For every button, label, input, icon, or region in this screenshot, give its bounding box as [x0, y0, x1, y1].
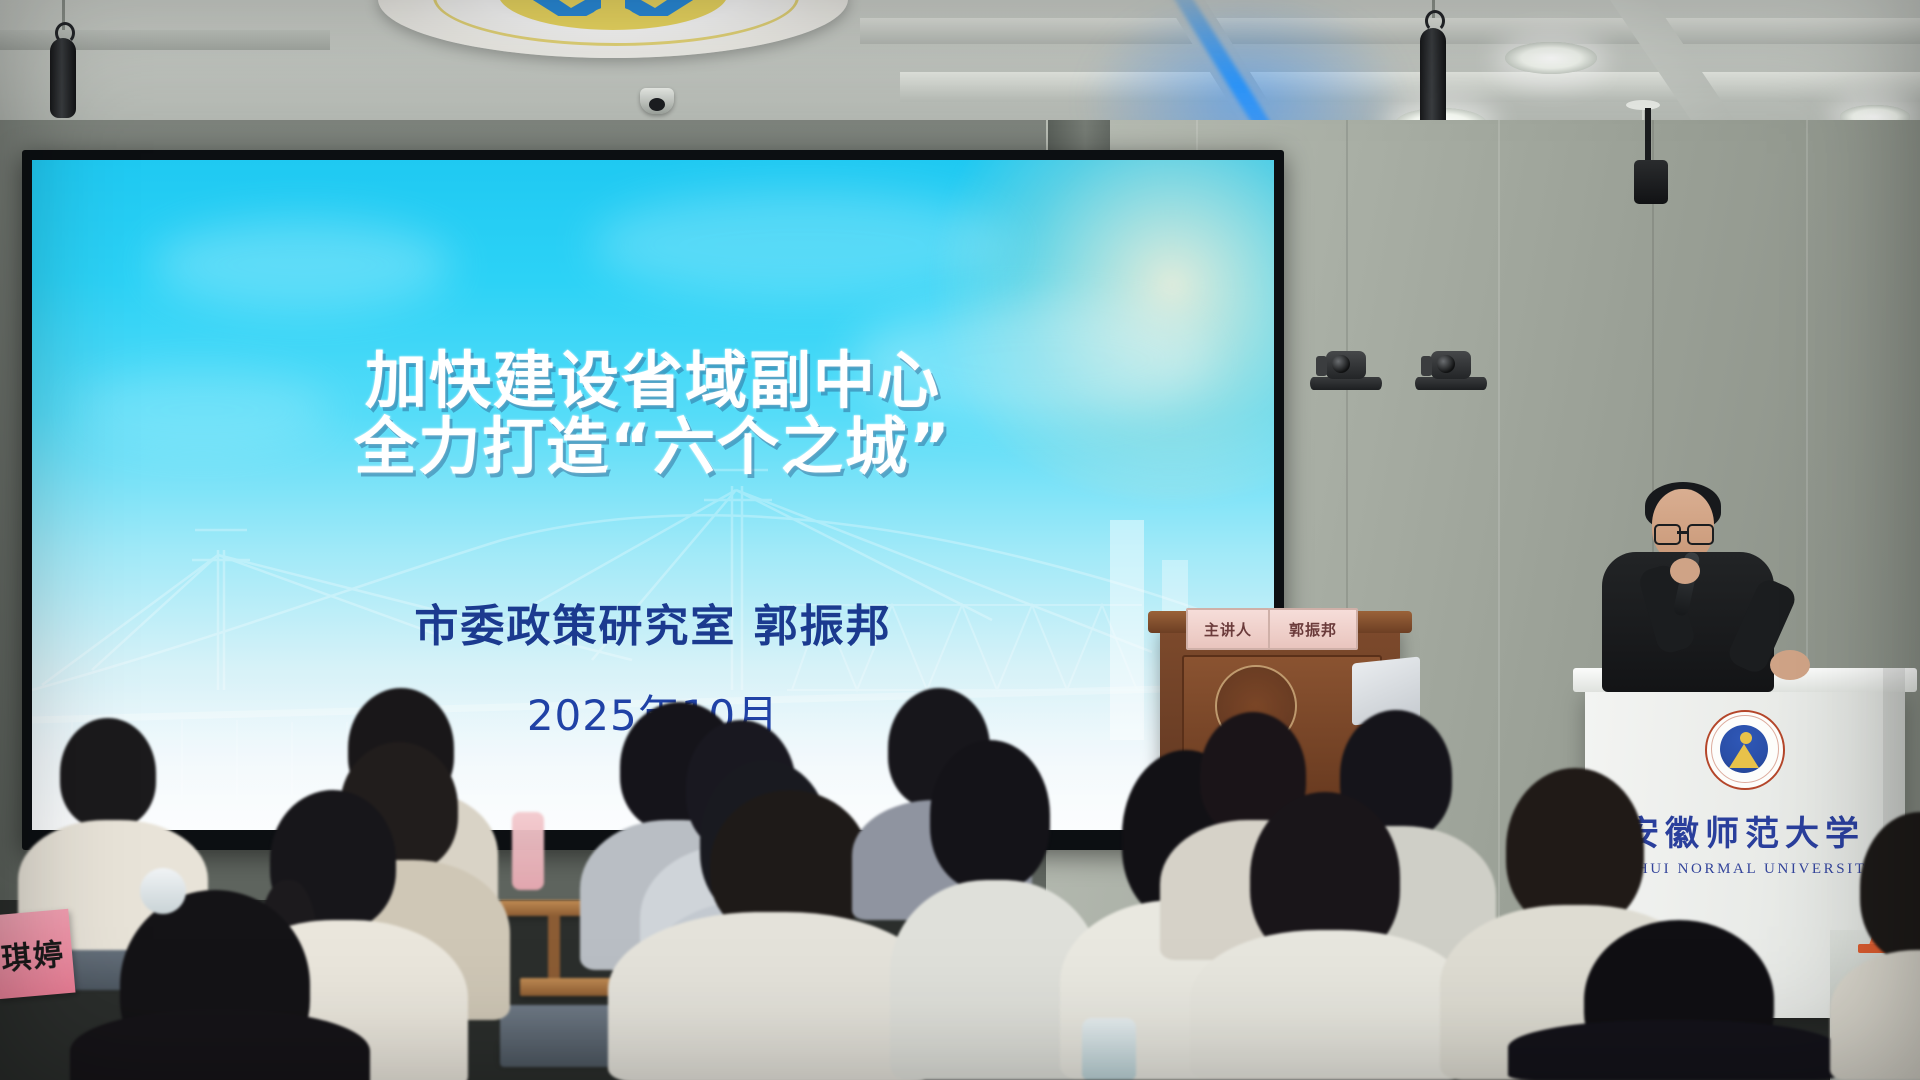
slide-title-line2: 全力打造“六个之城” [32, 414, 1274, 480]
lecture-hall-photo: 1928 [0, 0, 1920, 1080]
placard-role: 主讲人 [1186, 608, 1270, 650]
ptz-camera-icon [1310, 338, 1382, 390]
ptz-camera-icon [1415, 338, 1487, 390]
water-bottle-icon [512, 812, 544, 890]
downlight-icon [1505, 42, 1597, 74]
emblem-chevron-icon [513, 0, 713, 16]
water-bottle-icon [140, 868, 186, 914]
water-bottle-icon [1082, 1018, 1136, 1080]
dome-camera-icon [640, 88, 674, 114]
placard-name: 郭振邦 [1268, 608, 1358, 650]
presenter-hand-gesture [1770, 650, 1810, 680]
slide-title: 加快建设省域副中心 全力打造“六个之城” [32, 348, 1274, 479]
slide-presenter: 市委政策研究室 郭振邦 [32, 590, 1274, 654]
desk-name-card: 琪婷 [0, 909, 76, 999]
ceiling-speaker-icon [50, 38, 76, 118]
desk-name-card-text: 琪婷 [0, 929, 67, 978]
presenter-hand-mic [1670, 558, 1700, 584]
slide-title-line1: 加快建设省域副中心 [32, 348, 1274, 414]
ceiling-beam [900, 72, 1920, 102]
glasses-icon [1654, 524, 1710, 541]
speaker-bracket [1645, 108, 1651, 164]
university-crest-icon [1705, 710, 1785, 790]
wall-speaker-icon [1634, 160, 1668, 204]
